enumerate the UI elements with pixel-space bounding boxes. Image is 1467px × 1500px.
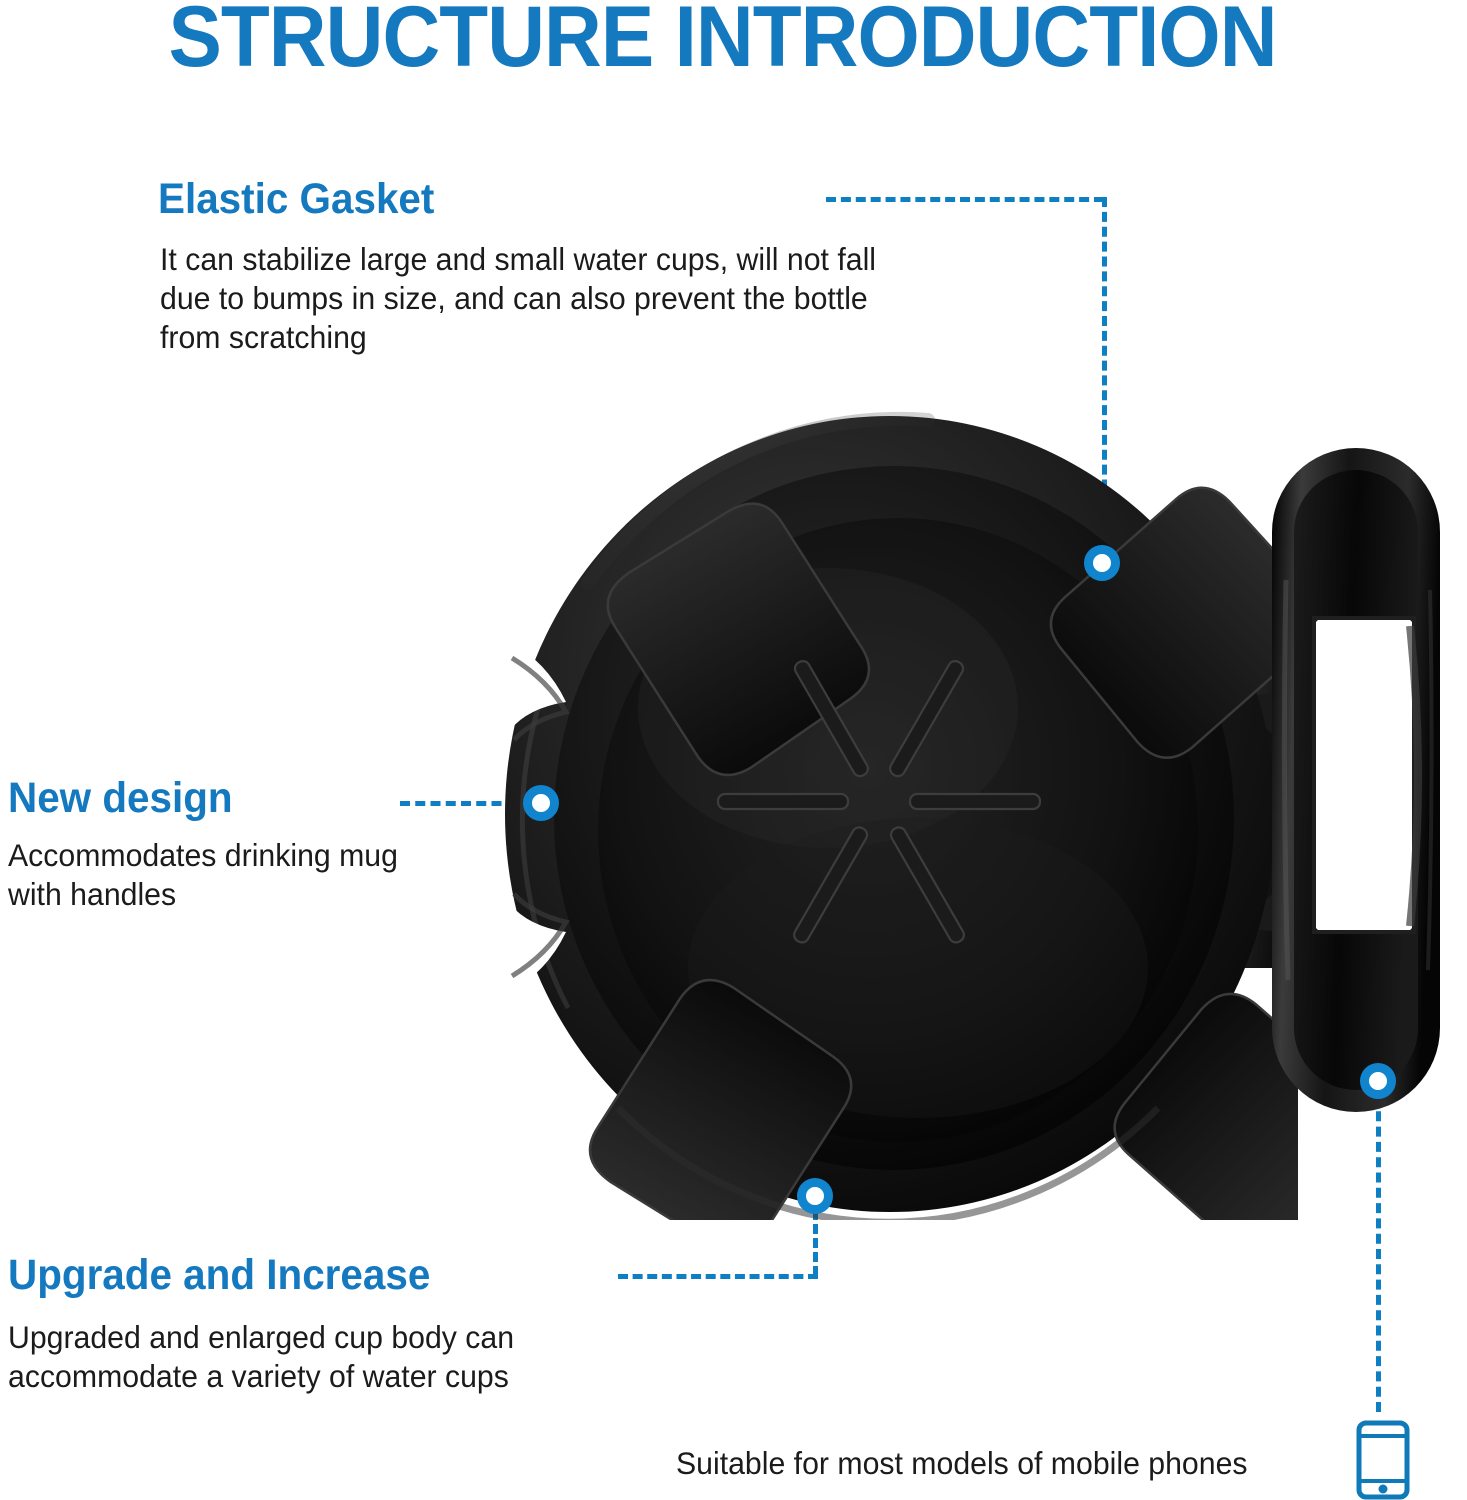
callout-body-upgrade-increase: Upgraded and enlarged cup body can accom…: [8, 1318, 622, 1396]
callout-marker-upgrade-increase[interactable]: [797, 1178, 833, 1214]
callout-heading-elastic-gasket: Elastic Gasket: [158, 176, 434, 222]
page-title: STRUCTURE INTRODUCTION: [51, 0, 1395, 80]
callout-marker-new-design[interactable]: [523, 785, 559, 821]
callout-heading-new-design: New design: [8, 775, 233, 821]
mobile-phone-icon: [1354, 1420, 1412, 1500]
callout-marker-elastic-gasket[interactable]: [1084, 545, 1120, 581]
callout-body-new-design: Accommodates drinking mug with handles: [8, 836, 459, 914]
callout-body-elastic-gasket: It can stabilize large and small water c…: [160, 240, 890, 357]
product-image-cup-holder: [498, 408, 1298, 1220]
callout-marker-phone-clip[interactable]: [1360, 1063, 1396, 1099]
leader-line-phone-vertical: [1376, 1096, 1381, 1412]
callout-heading-upgrade-increase: Upgrade and Increase: [8, 1252, 430, 1298]
leader-line-gasket-horizontal: [826, 197, 1104, 202]
phone-clip-arm: [1262, 440, 1452, 1120]
bottom-caption-text: Suitable for most models of mobile phone…: [676, 1444, 1248, 1482]
product-infographic: STRUCTURE INTRODUCTION: [0, 0, 1467, 1500]
leader-line-upgrade-horizontal: [618, 1274, 818, 1279]
